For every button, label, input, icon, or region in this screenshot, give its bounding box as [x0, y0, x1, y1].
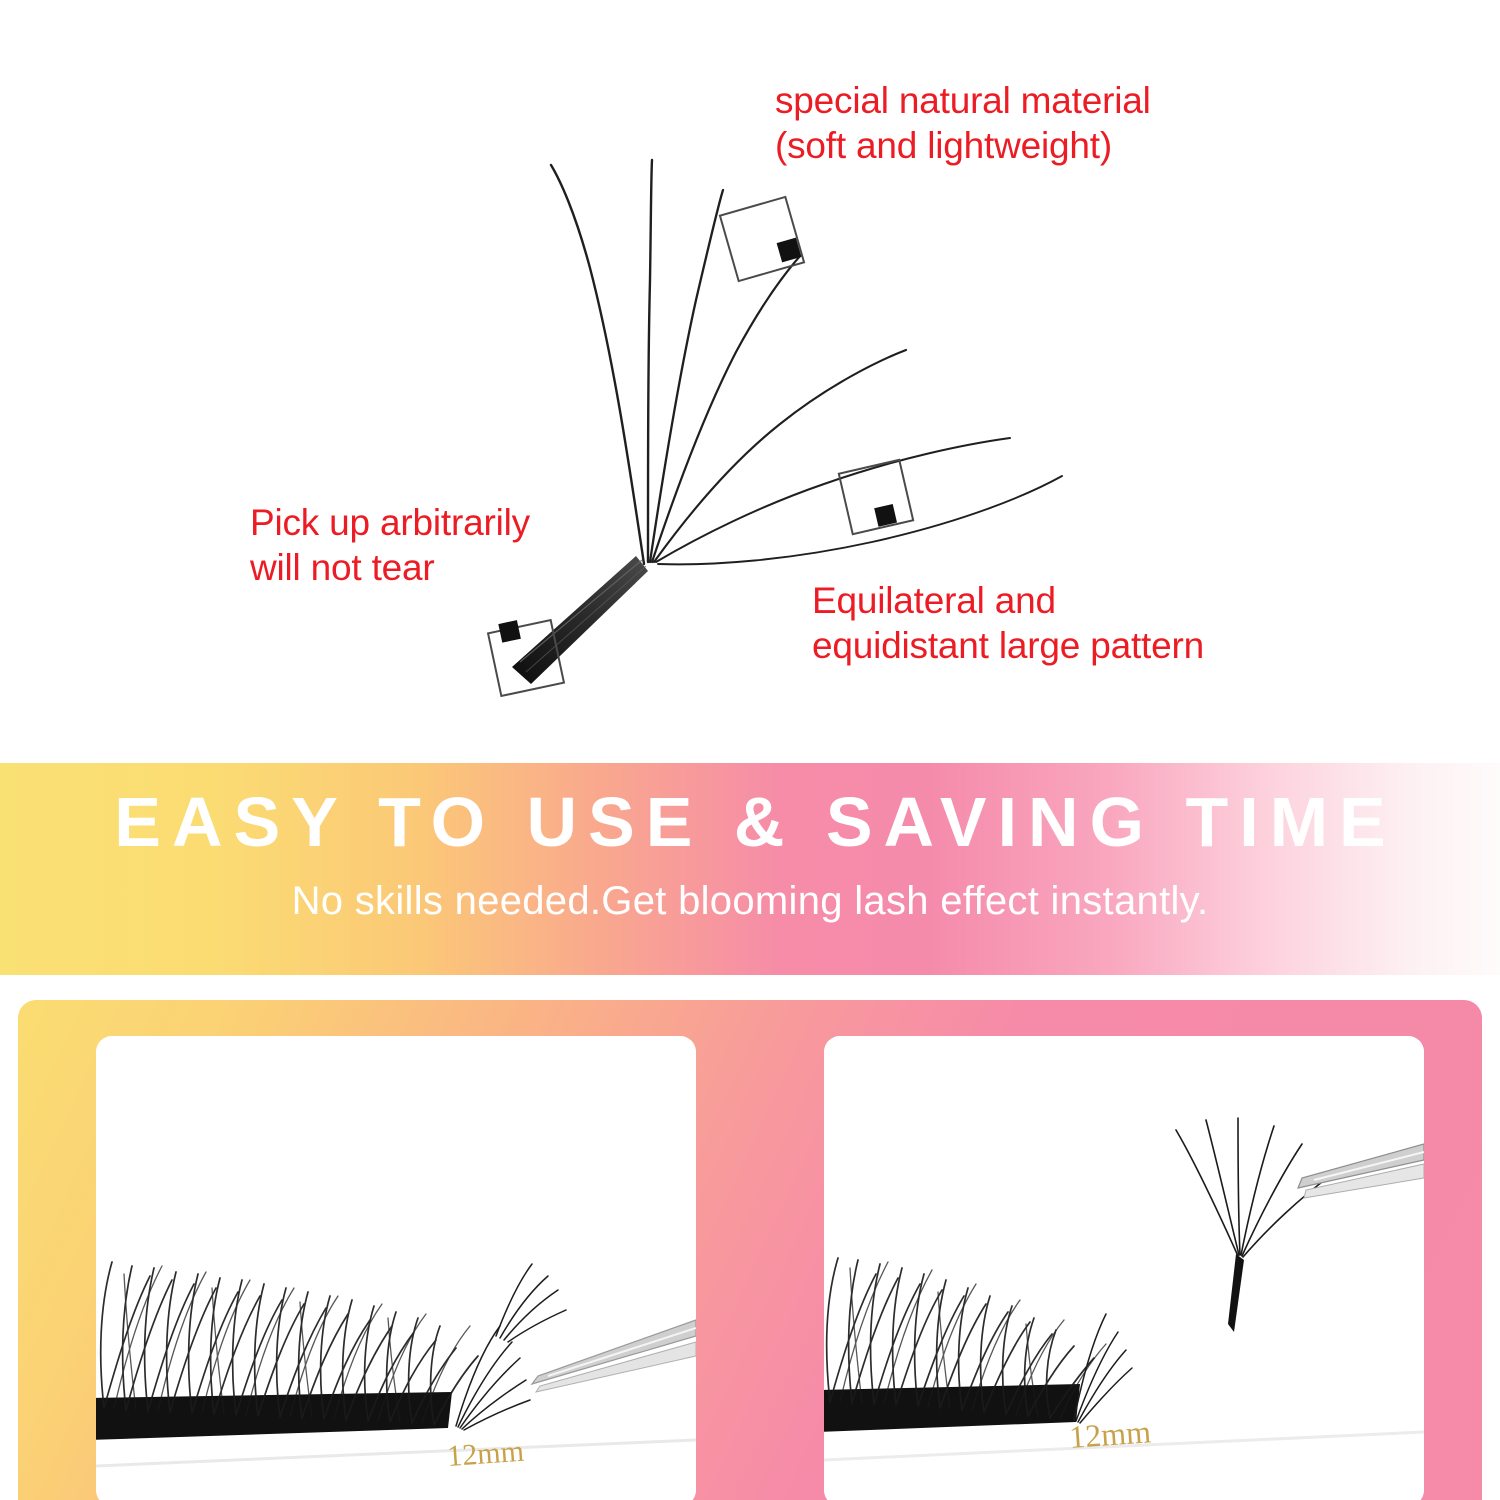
photo-gallery-frame: 12mm — [18, 1000, 1482, 1500]
callout-equilateral-pattern: Equilateral and equidistant large patter… — [812, 578, 1204, 668]
tray-size-caption-left: 12mm — [446, 1435, 525, 1473]
lash-strands — [551, 160, 1062, 564]
single-fan-pickup-photo: 12mm — [824, 1036, 1424, 1500]
banner-subtitle: No skills needed.Get blooming lash effec… — [0, 881, 1500, 921]
callout-pick-up-arbitrarily: Pick up arbitrarily will not tear — [250, 500, 530, 590]
lash-fan-diagram — [0, 0, 1500, 763]
callout-special-natural-material: special natural material (soft and light… — [775, 78, 1151, 168]
lash-tray-with-tweezers-photo: 12mm — [96, 1036, 696, 1500]
banner-title: EASY TO USE & SAVING TIME — [0, 787, 1500, 857]
hero-diagram-section: special natural material (soft and light… — [0, 0, 1500, 763]
marker-square-upper — [720, 197, 804, 281]
headline-banner: EASY TO USE & SAVING TIME No skills need… — [0, 763, 1500, 975]
tray-size-caption-right: 12mm — [1068, 1413, 1152, 1455]
lash-stem-base — [512, 556, 648, 684]
marker-square-lower — [839, 460, 913, 534]
